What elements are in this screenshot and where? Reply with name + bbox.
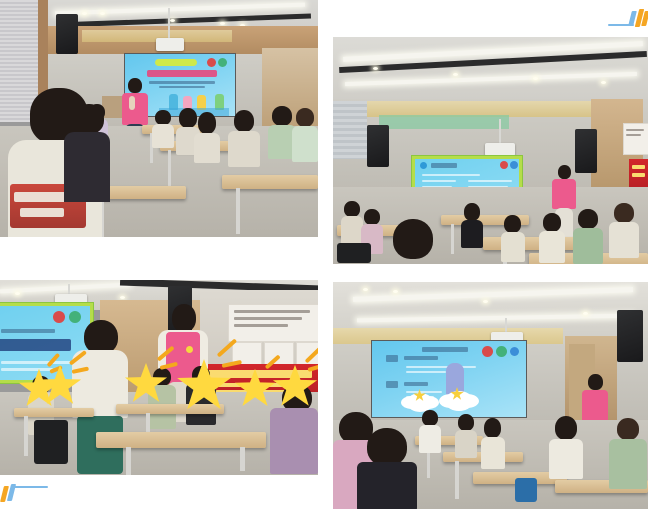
student-head — [504, 215, 521, 233]
slide-logo-badge — [496, 346, 507, 357]
sticker-star-shape — [234, 368, 276, 408]
slide-logo-badge — [510, 347, 519, 356]
desk-leg — [240, 447, 245, 471]
student-torso — [292, 126, 318, 162]
wall-notice-text — [234, 310, 310, 313]
slide-body-text — [468, 180, 512, 182]
student-head — [614, 203, 634, 223]
slide-body-text — [406, 366, 476, 368]
student — [419, 410, 441, 454]
student-torso — [152, 124, 174, 148]
student-head — [296, 108, 314, 127]
classroom-scene-bottom-right — [333, 282, 648, 509]
foreground-student-torso — [357, 462, 417, 509]
foreground-student — [357, 428, 417, 509]
student — [539, 213, 565, 263]
classroom-scene-top-right — [333, 37, 648, 264]
downlight-icon — [583, 312, 588, 315]
projector — [156, 38, 184, 51]
vest-emblem — [186, 346, 193, 353]
projector-rod — [168, 8, 170, 38]
student-head — [464, 203, 480, 221]
student — [228, 110, 260, 166]
presenter-vest — [582, 390, 608, 422]
student-head — [458, 414, 474, 431]
foreground-student — [64, 104, 110, 214]
desk-leg — [455, 461, 459, 499]
desk — [222, 175, 318, 189]
ceiling-speaker — [367, 125, 389, 167]
photo-top-left[interactable] — [0, 0, 318, 237]
downlight-icon — [453, 73, 458, 76]
downlight-icon — [601, 81, 606, 84]
volunteer-head — [172, 304, 196, 332]
student — [573, 209, 603, 264]
downlight-icon — [100, 12, 105, 15]
downlight-icon — [483, 300, 488, 303]
student — [455, 414, 477, 458]
downlight-icon — [15, 292, 20, 295]
slide-subtitle-text — [149, 81, 215, 84]
student — [609, 203, 639, 259]
student — [152, 110, 174, 146]
classroom-scene-bottom-left — [0, 280, 318, 475]
slide-logo-badge — [482, 346, 493, 357]
star-sticker — [124, 362, 168, 404]
student-torso — [194, 133, 220, 163]
student — [461, 203, 483, 249]
student — [549, 416, 583, 478]
chair — [34, 420, 68, 464]
wall-notice-text — [626, 129, 644, 131]
presenter-head — [128, 78, 142, 93]
wall-notice-board — [623, 123, 648, 155]
foreground-student-shirt — [64, 132, 110, 202]
presenter-vest — [122, 93, 148, 125]
wall-notice-text — [234, 324, 288, 327]
wall-green-band — [379, 115, 509, 129]
projector-rod — [499, 119, 501, 143]
student-torso — [461, 220, 483, 248]
classroom-scene-top-left — [0, 0, 318, 237]
downlight-icon — [220, 22, 225, 25]
desk-leg — [126, 447, 131, 475]
ceiling-speaker — [575, 129, 597, 173]
sticker-ray — [307, 364, 318, 372]
slide-subtitle-text — [159, 86, 205, 88]
presenter-head — [558, 165, 571, 179]
desk-leg — [24, 416, 28, 456]
slide-section-number — [386, 355, 398, 362]
slide-title-text — [0, 339, 71, 351]
student-torso — [341, 216, 363, 244]
presenter-head — [588, 374, 603, 390]
projection-screen — [371, 340, 527, 418]
collage-page — [0, 0, 648, 519]
window-left — [333, 101, 367, 159]
student-torso — [573, 228, 603, 264]
downlight-icon — [363, 288, 368, 291]
desk-leg — [451, 224, 454, 254]
slide-title-text — [422, 347, 468, 352]
student-head — [555, 416, 577, 440]
student-head — [617, 418, 639, 440]
student-head — [198, 112, 216, 134]
desk — [96, 432, 266, 448]
photo-top-right[interactable] — [333, 37, 648, 264]
student-head — [364, 209, 380, 225]
star-sticker — [234, 368, 276, 408]
student-torso — [455, 430, 477, 458]
ceiling-speaker — [617, 310, 643, 362]
downlight-icon — [170, 19, 175, 22]
presenter-vest — [552, 179, 576, 209]
student — [501, 215, 525, 263]
star-sticker — [38, 364, 82, 406]
photo-bottom-right[interactable] — [333, 282, 648, 509]
foreground-student-head — [84, 320, 118, 354]
student-head — [484, 418, 501, 438]
slide-body-text — [422, 180, 456, 182]
foreground-student — [385, 219, 441, 264]
student-head — [234, 110, 254, 132]
chair — [337, 243, 371, 263]
slide-body-text — [404, 356, 438, 360]
chair — [515, 478, 537, 502]
downlight-icon — [533, 77, 538, 80]
student-head — [578, 209, 598, 229]
slide-logo-badge — [510, 161, 518, 169]
student-torso — [549, 439, 583, 479]
slide-logo-badge — [207, 58, 216, 67]
bottom-left-corner-decoration — [2, 484, 48, 506]
student — [194, 112, 220, 160]
student-torso — [228, 131, 260, 167]
student-head — [272, 106, 292, 126]
slide-section-number — [386, 381, 398, 388]
student-head — [344, 201, 360, 217]
ceiling-speaker — [56, 14, 78, 54]
downlight-icon — [82, 12, 87, 15]
slide-logo-badge — [218, 58, 227, 67]
slide-section-dot — [420, 162, 427, 169]
slide-tag — [155, 59, 197, 66]
star-sticker — [176, 358, 232, 412]
desk-leg — [236, 188, 240, 234]
downlight-icon — [393, 290, 398, 293]
slide-body-text — [404, 382, 428, 386]
student-torso — [270, 408, 318, 474]
student-head — [543, 213, 561, 232]
wall-notice-text — [626, 134, 641, 136]
top-right-corner-decoration — [608, 8, 648, 30]
slide-heading-text — [431, 163, 457, 168]
slide-logo-badge — [500, 161, 508, 169]
decoration-rule — [14, 486, 48, 488]
downlight-icon — [120, 296, 125, 299]
student-head — [155, 110, 171, 125]
tshirt-graphic-text — [20, 208, 64, 217]
foreground-student-head — [393, 219, 433, 259]
foreground-student-head — [74, 104, 104, 134]
student — [609, 418, 647, 488]
student-torso — [481, 437, 505, 469]
student-torso — [609, 222, 639, 258]
student-head — [422, 410, 438, 426]
slide-logo-badge — [53, 311, 65, 323]
downlight-icon — [373, 67, 378, 70]
student-torso — [419, 425, 441, 453]
photo-bottom-left[interactable] — [0, 280, 318, 475]
wall-notice-text — [234, 317, 302, 320]
wall-banner-text — [632, 173, 645, 177]
slide-heading-text — [1, 329, 55, 333]
student — [341, 201, 363, 245]
wall-banner-text — [632, 165, 645, 169]
slide-body-text — [422, 174, 480, 176]
student — [292, 108, 318, 162]
student-torso — [501, 232, 525, 262]
student-torso — [539, 231, 565, 263]
student-torso — [609, 439, 647, 489]
slide-body-text — [406, 371, 446, 373]
star-sticker — [272, 364, 318, 408]
foreground-student-head — [367, 428, 407, 466]
slide-title-text — [147, 70, 217, 77]
desk-leg — [168, 150, 171, 186]
student — [481, 418, 505, 468]
presenter-arm-with-microphone — [129, 96, 135, 110]
